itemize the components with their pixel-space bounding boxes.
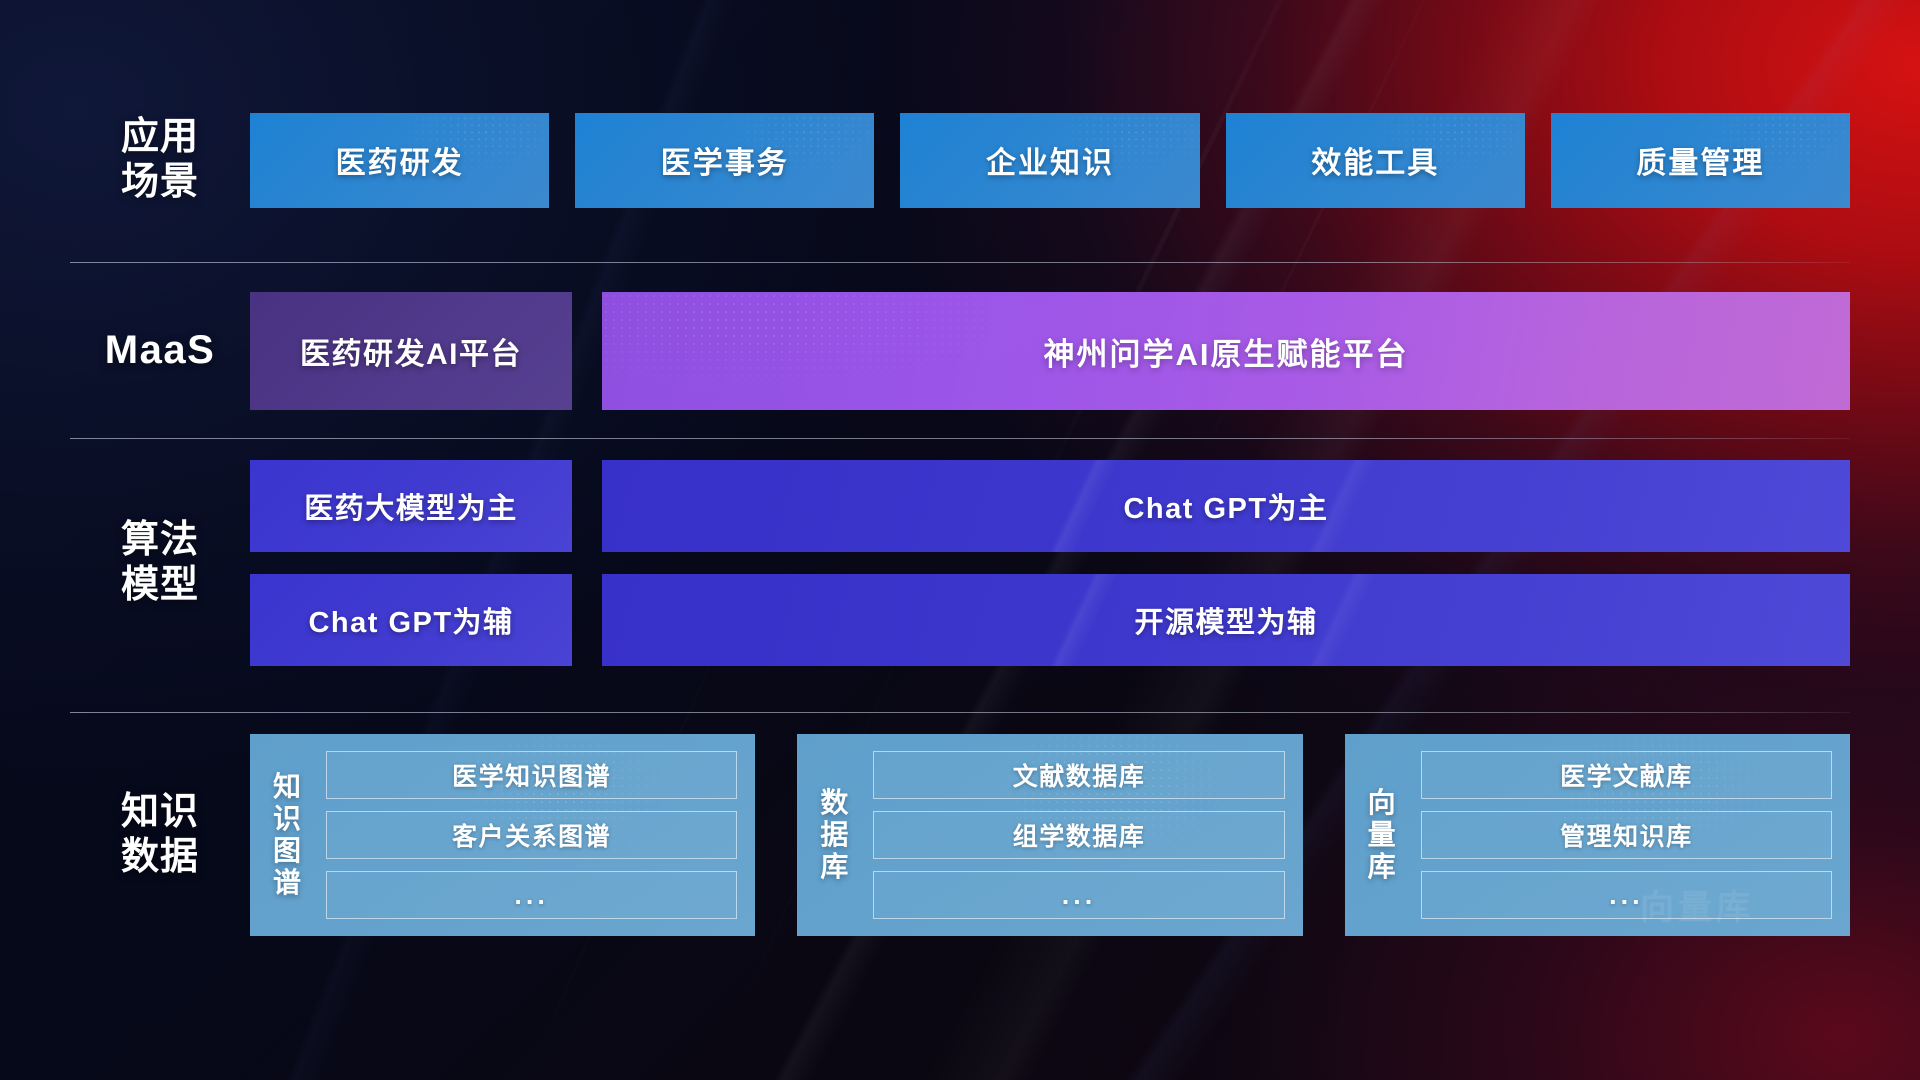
knowledge-item-more[interactable]: ... <box>873 871 1284 919</box>
algorithm-row-primary: 医药大模型为主 Chat GPT为主 <box>250 460 1850 552</box>
algo-card-chatgpt-secondary[interactable]: Chat GPT为辅 <box>250 574 572 666</box>
algorithm-row-secondary: Chat GPT为辅 开源模型为辅 <box>250 574 1850 666</box>
knowledge-panel-vector-store[interactable]: 向量库 医学文献库 管理知识库 ... <box>1345 734 1850 936</box>
knowledge-item-label: ... <box>514 880 549 911</box>
knowledge-panel-knowledge-graph[interactable]: 知识图谱 医学知识图谱 客户关系图谱 ... <box>250 734 755 936</box>
tier-knowledge-data: 知识 数据 知识图谱 医学知识图谱 客户关系图谱 ... <box>70 730 1850 940</box>
knowledge-item-list: 文献数据库 组学数据库 ... <box>873 751 1284 919</box>
knowledge-panel-list: 知识图谱 医学知识图谱 客户关系图谱 ... 数据库 <box>250 734 1850 936</box>
maas-panel-list: 医药研发AI平台 神州问学AI原生赋能平台 <box>250 292 1850 410</box>
knowledge-panel-title: 数据库 <box>811 787 857 883</box>
knowledge-item-label: 管理知识库 <box>1560 817 1693 853</box>
algo-card-pharma-llm-primary[interactable]: 医药大模型为主 <box>250 460 572 552</box>
knowledge-panel-title: 向量库 <box>1359 787 1405 883</box>
tier-label-algorithm-models: 算法 模型 <box>70 518 250 608</box>
algo-card-opensource-secondary[interactable]: 开源模型为辅 <box>602 574 1850 666</box>
knowledge-item-more[interactable]: ... <box>1421 871 1832 919</box>
knowledge-item-label: 文献数据库 <box>1013 757 1146 793</box>
tier-label-maas: MaaS <box>70 327 250 374</box>
architecture-stack-diagram: 应用 场景 医药研发 医学事务 企业知识 效能工具 质量管理 <box>0 0 1920 1080</box>
knowledge-item[interactable]: 医学知识图谱 <box>326 751 737 799</box>
knowledge-item-label: ... <box>1609 880 1644 911</box>
tier-algorithm-models: 算法 模型 医药大模型为主 Chat GPT为主 Chat GPT为辅 开源模型… <box>70 460 1850 666</box>
knowledge-panel-database[interactable]: 数据库 文献数据库 组学数据库 ... <box>797 734 1302 936</box>
tier-label-knowledge-data: 知识 数据 <box>70 790 250 880</box>
knowledge-item-label: ... <box>1062 880 1097 911</box>
divider-after-algorithm-tier <box>70 712 1850 713</box>
maas-card-label: 神州问学AI原生赋能平台 <box>1044 329 1409 374</box>
knowledge-panel-title: 知识图谱 <box>264 771 310 899</box>
knowledge-item[interactable]: 医学文献库 <box>1421 751 1832 799</box>
knowledge-item-more[interactable]: ... <box>326 871 737 919</box>
slide-background: 应用 场景 医药研发 医学事务 企业知识 效能工具 质量管理 <box>0 0 1920 1080</box>
app-card-quality-management[interactable]: 质量管理 <box>1551 113 1850 208</box>
tier-label-application-scenarios: 应用 场景 <box>70 115 250 205</box>
maas-card-shenzhou-wenxue-platform[interactable]: 神州问学AI原生赋能平台 <box>602 292 1850 410</box>
knowledge-item-label: 组学数据库 <box>1013 817 1146 853</box>
knowledge-item-label: 医学知识图谱 <box>452 757 611 793</box>
app-card-label: 质量管理 <box>1636 138 1764 182</box>
maas-card-drug-rd-ai-platform[interactable]: 医药研发AI平台 <box>250 292 572 410</box>
tier-application-scenarios: 应用 场景 医药研发 医学事务 企业知识 效能工具 质量管理 <box>70 110 1850 210</box>
algo-card-label: 开源模型为辅 <box>1134 599 1317 641</box>
algo-card-label: 医药大模型为主 <box>304 485 518 527</box>
app-card-enterprise-knowledge[interactable]: 企业知识 <box>900 113 1199 208</box>
divider-after-maas-tier <box>70 438 1850 439</box>
knowledge-item[interactable]: 组学数据库 <box>873 811 1284 859</box>
algo-card-label: Chat GPT为辅 <box>308 599 513 641</box>
app-card-label: 效能工具 <box>1311 138 1439 182</box>
app-card-label: 医药研发 <box>336 138 464 182</box>
app-card-label: 医学事务 <box>661 138 789 182</box>
knowledge-item-list: 医学文献库 管理知识库 ... <box>1421 751 1832 919</box>
app-card-drug-rd[interactable]: 医药研发 <box>250 113 549 208</box>
app-card-label: 企业知识 <box>986 138 1114 182</box>
algo-card-chatgpt-primary[interactable]: Chat GPT为主 <box>602 460 1850 552</box>
algo-card-label: Chat GPT为主 <box>1123 485 1328 527</box>
knowledge-item[interactable]: 管理知识库 <box>1421 811 1832 859</box>
knowledge-item-label: 客户关系图谱 <box>452 817 611 853</box>
knowledge-item[interactable]: 客户关系图谱 <box>326 811 737 859</box>
algorithm-model-list: 医药大模型为主 Chat GPT为主 Chat GPT为辅 开源模型为辅 <box>250 460 1850 666</box>
knowledge-item[interactable]: 文献数据库 <box>873 751 1284 799</box>
application-card-list: 医药研发 医学事务 企业知识 效能工具 质量管理 <box>250 113 1850 208</box>
divider-after-application-tier <box>70 262 1850 263</box>
app-card-medical-affairs[interactable]: 医学事务 <box>575 113 874 208</box>
knowledge-item-label: 医学文献库 <box>1560 757 1693 793</box>
knowledge-item-list: 医学知识图谱 客户关系图谱 ... <box>326 751 737 919</box>
tier-maas: MaaS 医药研发AI平台 神州问学AI原生赋能平台 <box>70 290 1850 412</box>
maas-card-label: 医药研发AI平台 <box>300 329 522 373</box>
app-card-efficiency-tools[interactable]: 效能工具 <box>1226 113 1525 208</box>
